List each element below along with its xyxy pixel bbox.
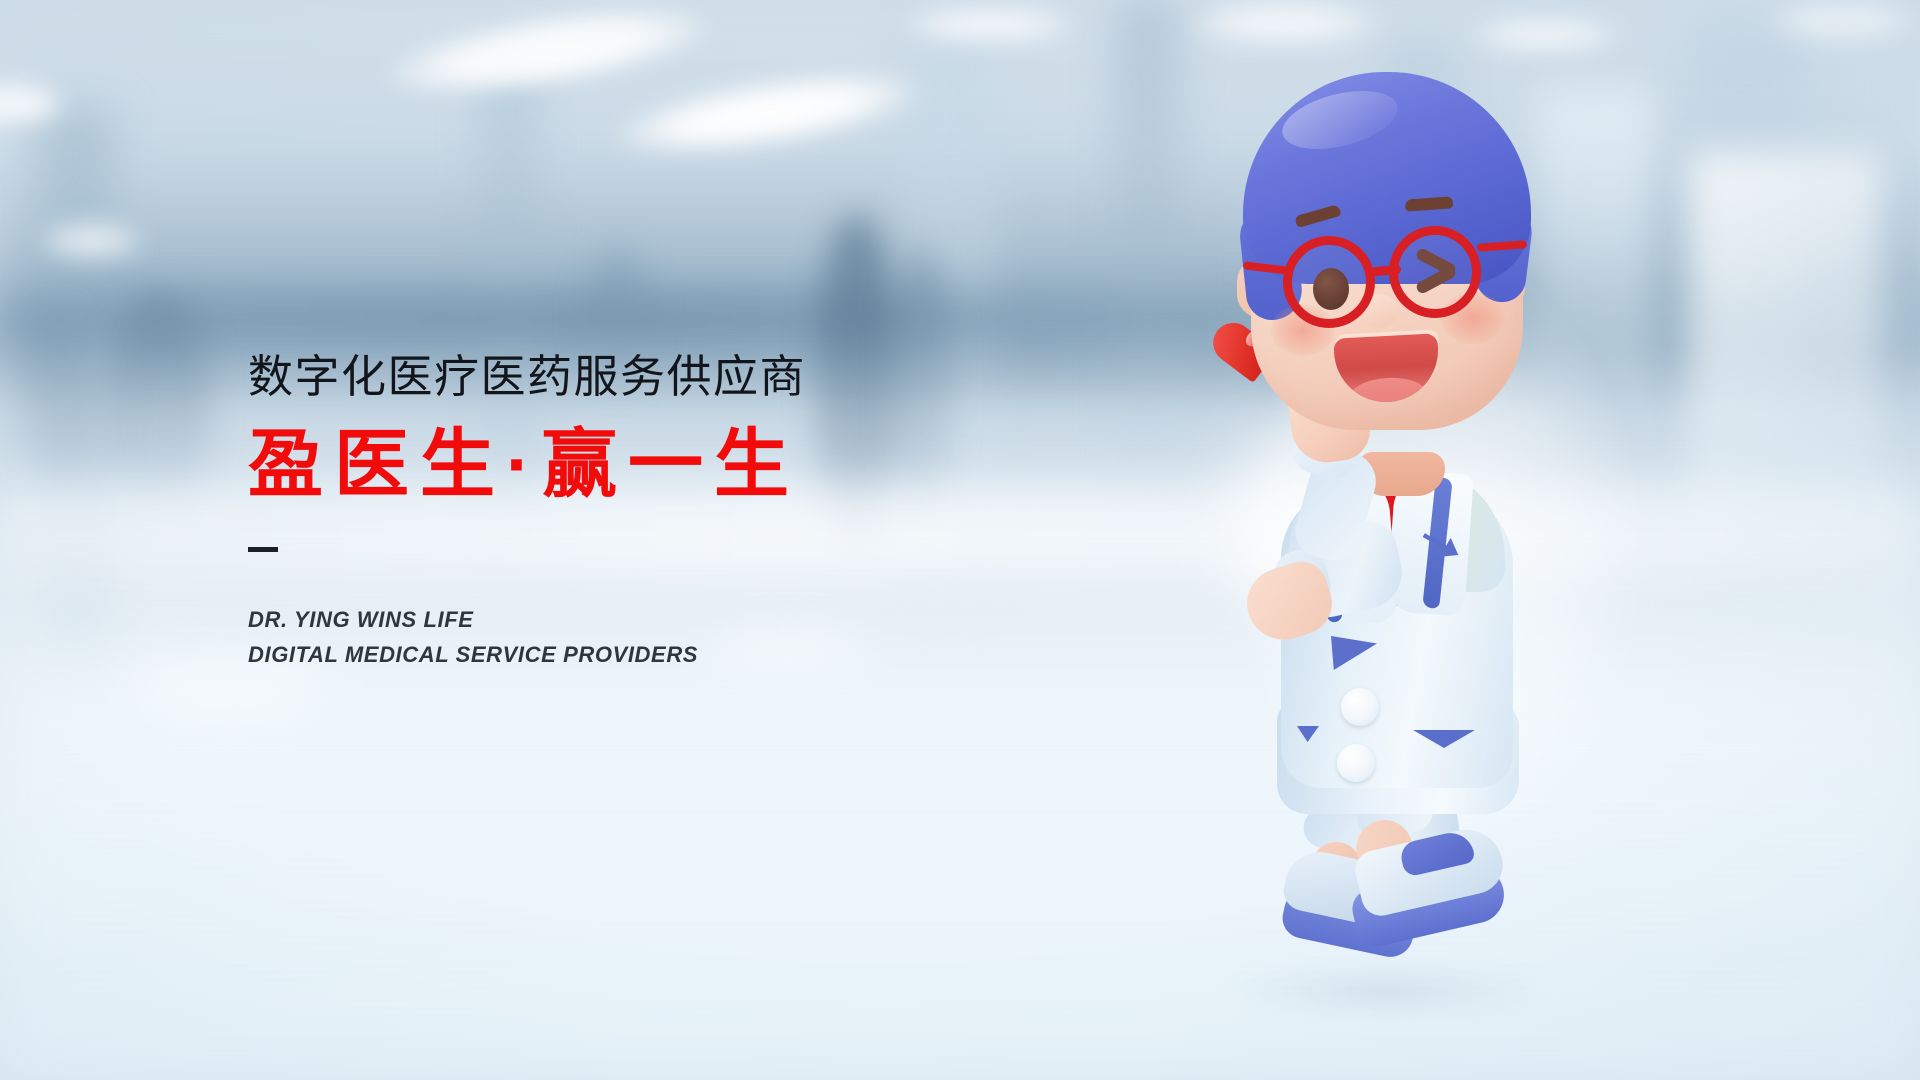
subtitle-line-1: DR. YING WINS LIFE <box>248 602 1028 638</box>
hero-title-chinese: 盈医生·赢一生 <box>248 424 1028 505</box>
glasses-lens-left <box>1283 236 1375 328</box>
subtitle-line-2: DIGITAL MEDICAL SERVICE PROVIDERS <box>248 637 1028 673</box>
mascot-doctor-character <box>1185 58 1655 1028</box>
hero-divider-dash <box>248 547 278 552</box>
mascot-coat-button <box>1337 744 1375 782</box>
hero-text-block: 数字化医疗医药服务供应商 盈医生·赢一生 DR. YING WINS LIFE … <box>248 352 1028 673</box>
glasses-lens-right <box>1389 226 1481 318</box>
hero-headline-chinese: 数字化医疗医药服务供应商 <box>248 352 1028 402</box>
hero-banner: 数字化医疗医药服务供应商 盈医生·赢一生 DR. YING WINS LIFE … <box>0 0 1920 1080</box>
mascot-coat-button <box>1341 688 1379 726</box>
hero-subtitle-english: DR. YING WINS LIFE DIGITAL MEDICAL SERVI… <box>248 602 1028 673</box>
mascot-tongue <box>1350 376 1428 405</box>
